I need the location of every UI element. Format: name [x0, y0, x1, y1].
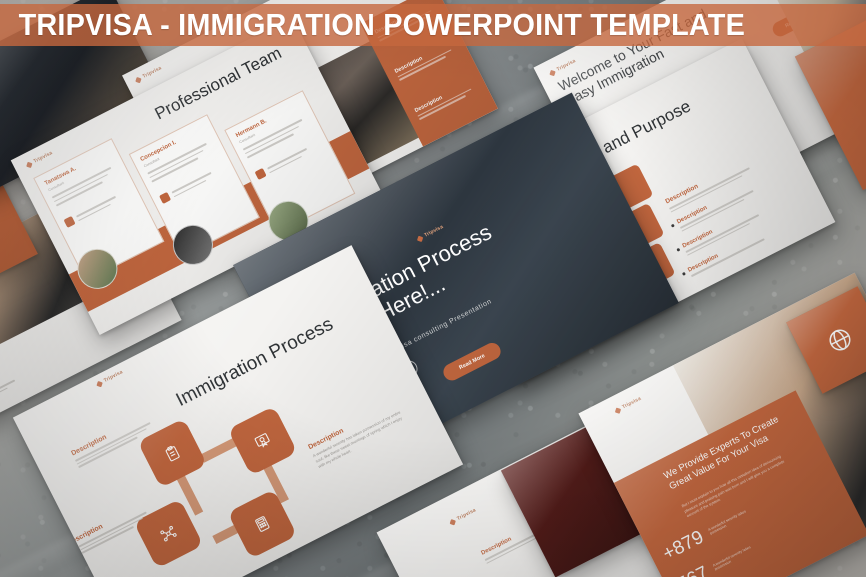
list-item[interactable]: Description 03 [414, 81, 473, 119]
network-icon [158, 523, 180, 545]
title-banner: TRIPVISA - IMMIGRATION POWERPOINT TEMPLA… [0, 4, 866, 46]
logo-mark-icon [615, 407, 621, 413]
list-item[interactable]: Description 02 [394, 42, 453, 80]
logo-mark-icon [96, 381, 102, 387]
logo-mark-icon [135, 77, 141, 83]
social-icon[interactable] [64, 216, 76, 228]
clipboard-icon [162, 442, 184, 464]
process-description: Description A wonderful serenity has tak… [307, 398, 412, 470]
calculator-icon [252, 513, 274, 535]
social-icon[interactable] [255, 168, 267, 180]
certificate-icon [252, 430, 274, 452]
bullet-dot-icon [671, 223, 675, 227]
banner-title: TRIPVISA - IMMIGRATION POWERPOINT TEMPLA… [0, 7, 745, 43]
logo-mark-icon [26, 161, 32, 167]
mockup-stage: Description Tripvisa Tripvisa Tripvisa [0, 0, 866, 577]
logo-tripvisa: Tripvisa [96, 369, 124, 387]
logo-tripvisa: Tripvisa [614, 396, 642, 414]
social-icon[interactable] [159, 192, 171, 204]
logo-mark-icon [449, 519, 455, 525]
bullet-dot-icon [682, 271, 686, 275]
logo-tripvisa: Tripvisa [135, 65, 163, 83]
process-node-certificate[interactable] [228, 406, 298, 476]
globe-icon [823, 323, 858, 358]
logo-tripvisa: Tripvisa [449, 507, 477, 525]
logo-mark-icon [549, 69, 555, 75]
logo-mark-icon [417, 235, 423, 241]
slide-title: Immigration Process [173, 314, 337, 412]
logo-tripvisa: Tripvisa [26, 150, 54, 168]
bullet-dot-icon [676, 247, 680, 251]
